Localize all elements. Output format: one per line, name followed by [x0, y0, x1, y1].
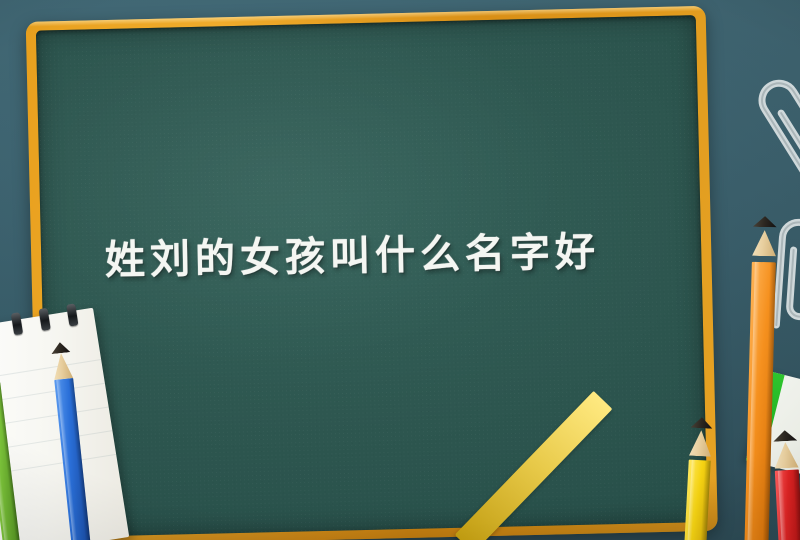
red-pencil — [775, 470, 800, 540]
yellow-pencil — [683, 460, 711, 540]
scene-canvas: 姓刘的女孩叫什么名字好 — [0, 0, 800, 540]
chalkboard-text: 姓刘的女孩叫什么名字好 — [105, 228, 666, 284]
